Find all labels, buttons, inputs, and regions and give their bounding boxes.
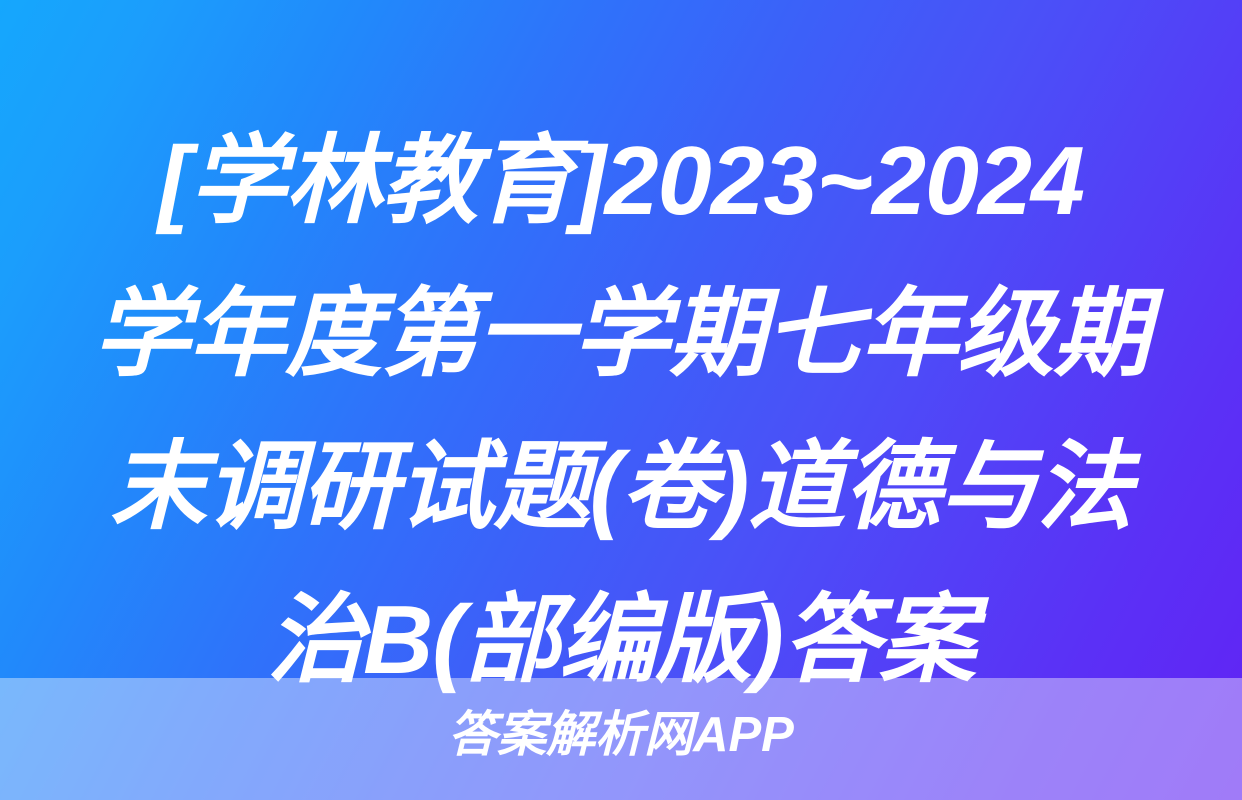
title-line-2: 学年度第一学期七年级期 [78,257,1164,410]
brand-name-label: 答案解析网APP [448,711,794,760]
promo-card: [学林教育]2023~2024 学年度第一学期七年级期 末调研试题(卷)道德与法… [0,0,1242,800]
title-line-3: 末调研试题(卷)道德与法 [78,410,1164,563]
page-title: [学林教育]2023~2024 学年度第一学期七年级期 末调研试题(卷)道德与法… [78,104,1164,716]
title-line-1: [学林教育]2023~2024 [78,104,1164,257]
brand-watermark-bar: 答案解析网APP [0,678,1242,800]
